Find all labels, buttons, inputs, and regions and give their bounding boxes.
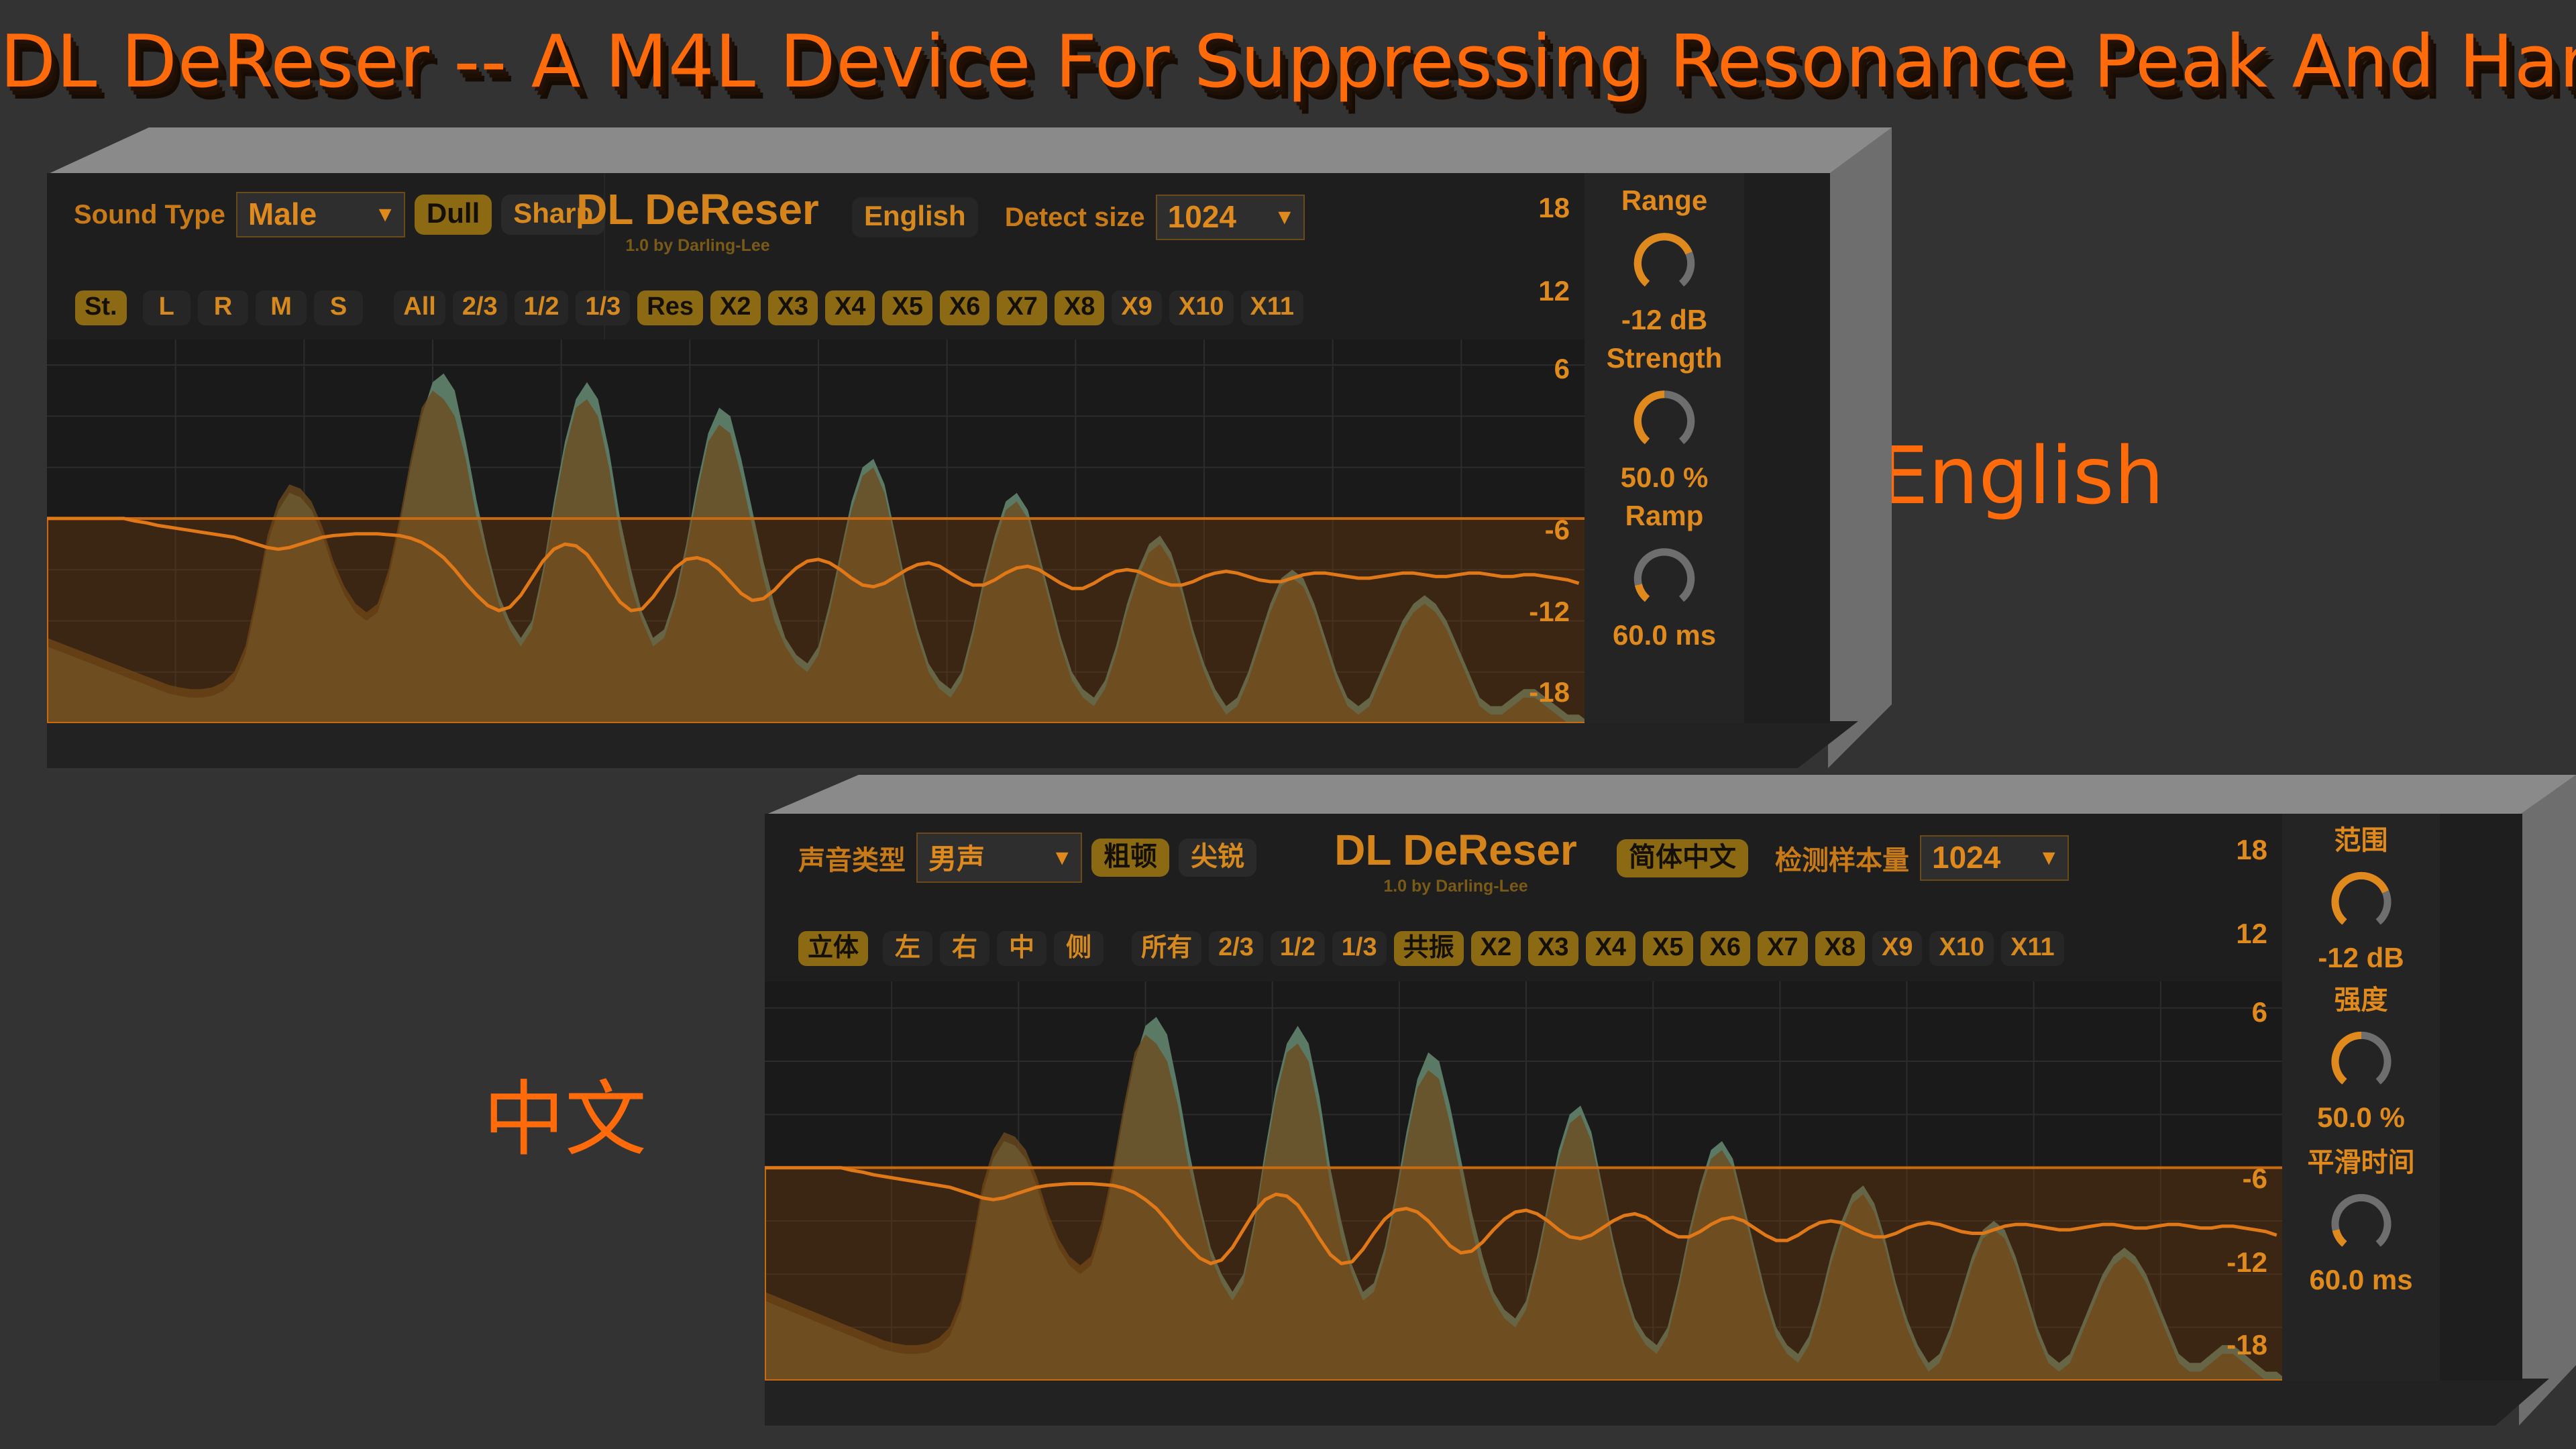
harmonic-button-res[interactable]: Res [637,290,703,325]
harmonic-button-x7[interactable]: X7 [1758,931,1807,966]
scale-label-neg6: -6 [1496,514,1570,546]
knob-strength[interactable]: Strength 50.0 % [1585,344,1744,492]
bevel-right-edge [1828,127,1892,768]
scale-label-18: 18 [1509,192,1570,224]
chevron-down-icon: ▼ [374,203,396,225]
scale-label-6: 6 [2207,996,2267,1028]
channel-button-right[interactable]: 右 [940,931,989,966]
harmonic-button-1-2[interactable]: 1/2 [1271,931,1325,966]
harmonic-button-all[interactable]: 所有 [1132,931,1201,966]
knob-range-label: 范围 [2282,827,2440,854]
scale-label-neg6: -6 [2194,1163,2267,1195]
plugin-title-block-chinese: DL DeReser 1.0 by Darling-Lee [1315,828,1597,896]
detect-size-dropdown[interactable]: 1024 ▼ [1156,195,1305,240]
harmonic-button-1-2[interactable]: 1/2 [515,290,569,325]
harmonic-button-x2[interactable]: X2 [1471,931,1521,966]
annotation-english: English [1878,429,2164,522]
harmonic-button-x6[interactable]: X6 [940,290,989,325]
plugin-face-english: Sound Type Male ▼ Dull Sharp DL DeReser … [47,173,1830,723]
knob-range-value: -12 dB [2282,944,2440,972]
knob-strength-value: 50.0 % [2282,1104,2440,1132]
sound-type-value: 男声 [928,837,985,877]
sound-type-label: Sound Type [74,200,225,230]
harmonic-button-x11[interactable]: X11 [2001,931,2064,966]
scale-label-neg18: -18 [1483,676,1570,708]
knob-ramp-value: 60.0 ms [1585,621,1744,649]
harmonic-button-x3[interactable]: X3 [768,290,818,325]
scale-label-12: 12 [1509,275,1570,307]
sound-type-dropdown[interactable]: Male ▼ [236,192,405,237]
harmonic-button-x7[interactable]: X7 [997,290,1046,325]
harmonic-button-x11[interactable]: X11 [1241,290,1304,325]
harmonic-button-all[interactable]: All [394,290,445,325]
harmonic-button-x2[interactable]: X2 [710,290,760,325]
language-button-english[interactable]: English [852,197,978,237]
plugin-window-english: Sound Type Male ▼ Dull Sharp DL DeReser … [47,127,1892,768]
detect-size-dropdown[interactable]: 1024 ▼ [1920,835,2069,881]
channel-button-stereo[interactable]: St. [75,290,127,325]
channel-button-mid[interactable]: M [256,290,307,325]
bevel-right-edge [2519,775,2576,1426]
header-row-chinese: 声音类型 男声 ▼ 粗顿 尖锐 [798,833,1256,883]
harmonic-button-x3[interactable]: X3 [1528,931,1578,966]
bevel-bottom-edge [47,721,1858,768]
header-row-english: Sound Type Male ▼ Dull Sharp [74,192,605,237]
plugin-subtitle: 1.0 by Darling-Lee [557,236,839,256]
plugin-face-chinese: 声音类型 男声 ▼ 粗顿 尖锐 DL DeReser 1.0 by Darlin… [765,814,2522,1381]
plugin-title: DL DeReser [557,188,839,231]
harmonic-button-x8[interactable]: X8 [1055,290,1104,325]
bevel-top-edge [765,775,2576,815]
chevron-down-icon: ▼ [1051,847,1073,868]
spectrum-graph-english[interactable] [47,339,1590,723]
scale-label-neg12: -12 [1483,596,1570,628]
knob-ramp-label: Ramp [1585,502,1744,530]
page-title: DL DeReser -- A M4L Device For Suppressi… [0,20,2576,104]
knob-rail-english: Range -12 dB Strength 50.0 % Ramp 60.0 m… [1585,173,1744,723]
bevel-bottom-edge [765,1379,2549,1426]
sound-type-dropdown[interactable]: 男声 ▼ [916,833,1082,883]
detect-size-value: 1024 [1168,199,1236,235]
harmonic-button-2-3[interactable]: 2/3 [1209,931,1263,966]
bevel-top-edge [47,127,1892,174]
scale-label-12: 12 [2207,918,2267,950]
annotation-chinese: 中文 [483,1053,647,1172]
harmonic-button-x5[interactable]: X5 [882,290,932,325]
knob-range[interactable]: 范围 -12 dB [2282,827,2440,972]
knob-range[interactable]: Range -12 dB [1585,186,1744,334]
scale-label-neg18: -18 [2180,1329,2267,1361]
channel-button-right[interactable]: R [198,290,248,325]
harmonic-button-x9[interactable]: X9 [1872,931,1922,966]
knob-strength-value: 50.0 % [1585,464,1744,492]
harmonic-button-x10[interactable]: X10 [1169,290,1234,325]
harmonic-button-1-3[interactable]: 1/3 [576,290,630,325]
channel-button-left[interactable]: L [143,290,191,325]
scale-label-18: 18 [2207,834,2267,866]
knob-range-label: Range [1585,186,1744,215]
harmonic-button-1-3[interactable]: 1/3 [1332,931,1387,966]
chevron-down-icon: ▼ [2038,847,2059,868]
detect-size-label: Detect size [1005,203,1145,233]
channel-button-side[interactable]: S [314,290,363,325]
knob-ramp-label: 平滑时间 [2282,1149,2440,1176]
plugin-window-chinese: 声音类型 男声 ▼ 粗顿 尖锐 DL DeReser 1.0 by Darlin… [765,775,2576,1426]
harmonic-button-x10[interactable]: X10 [1929,931,1994,966]
knob-rail-chinese: 范围 -12 dB 强度 50.0 % 平滑时间 60.0 ms [2282,814,2440,1381]
sound-type-label: 声音类型 [798,839,906,877]
tone-button-dull[interactable]: 粗顿 [1091,839,1169,877]
harmonic-button-x6[interactable]: X6 [1701,931,1750,966]
plugin-subtitle: 1.0 by Darling-Lee [1315,877,1597,896]
sound-type-value: Male [248,196,317,232]
plugin-title: DL DeReser [1315,828,1597,871]
tone-button-dull[interactable]: Dull [415,195,492,234]
language-button-chinese[interactable]: 简体中文 [1617,839,1748,877]
channel-button-left[interactable]: 左 [883,931,932,966]
spectrum-graph-chinese[interactable] [765,981,2288,1381]
harmonic-button-2-3[interactable]: 2/3 [453,290,507,325]
knob-range-value: -12 dB [1585,306,1744,334]
detect-size-value: 1024 [1932,839,2000,875]
knob-strength-label: Strength [1585,344,1744,372]
language-and-detect-row-chinese: 简体中文 检测样本量 1024 ▼ [1617,835,2069,881]
harmonic-button-x4[interactable]: X4 [825,290,875,325]
knob-ramp[interactable]: Ramp 60.0 ms [1585,502,1744,649]
channel-button-side[interactable]: 侧 [1054,931,1104,966]
harmonic-button-x4[interactable]: X4 [1586,931,1635,966]
harmonic-button-x5[interactable]: X5 [1643,931,1693,966]
channel-button-stereo[interactable]: 立体 [798,931,868,966]
knob-ramp[interactable]: 平滑时间 60.0 ms [2282,1149,2440,1294]
detect-size-label: 检测样本量 [1775,839,1909,877]
scale-label-neg12: -12 [2180,1246,2267,1279]
plugin-title-block-english: DL DeReser 1.0 by Darling-Lee [557,188,839,256]
harmonic-button-res[interactable]: 共振 [1394,931,1464,966]
tone-button-sharp[interactable]: 尖锐 [1179,839,1256,877]
chevron-down-icon: ▼ [1274,206,1295,227]
scale-label-6: 6 [1509,353,1570,385]
channel-button-row-chinese: 立体 左 右 中 侧 所有 2/3 1/2 1/3 共振 X2 X3 X4 X5… [798,931,2064,966]
harmonic-button-x9[interactable]: X9 [1112,290,1161,325]
knob-ramp-value: 60.0 ms [2282,1266,2440,1294]
harmonic-button-x8[interactable]: X8 [1815,931,1865,966]
knob-strength[interactable]: 强度 50.0 % [2282,987,2440,1132]
channel-button-row-english: St. L R M S All 2/3 1/2 1/3 Res X2 X3 X4… [75,290,1303,325]
language-and-detect-row-english: English Detect size 1024 ▼ [852,195,1305,240]
knob-strength-label: 强度 [2282,987,2440,1014]
channel-button-mid[interactable]: 中 [997,931,1046,966]
